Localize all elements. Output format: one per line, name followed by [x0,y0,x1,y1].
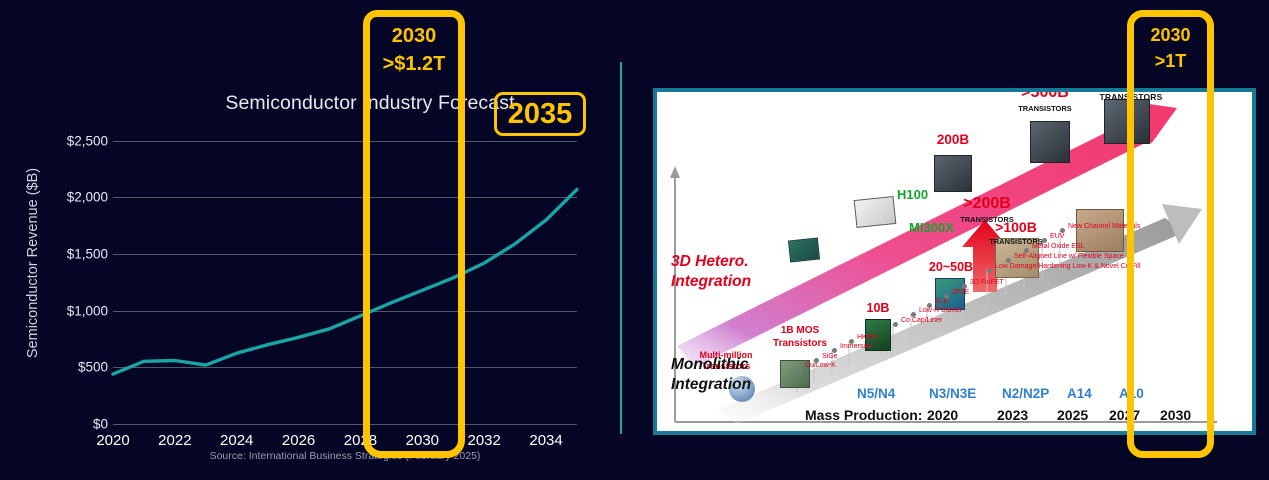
milestone-10b: 10B [853,301,903,315]
milestone-500b-unit: TRANSISTORS [993,104,1097,113]
technology-label: Metal Oxide ESL [1032,243,1085,250]
callout-right-label: 2030 >1T [1127,22,1214,74]
track-label-3d-hetero-line2: Integration [671,272,751,292]
technology-label: HKMG [857,334,878,341]
track-label-3d-hetero-line1: 3D Hetero. [671,252,751,272]
technology-label: Immersion [840,343,873,350]
track-label-monolithic-line2: Integration [671,375,751,395]
callout-left-year: 2030 [363,22,465,50]
technology-dot [1060,228,1065,233]
milestone-100b: >100B [975,219,1057,235]
mass-production-year-2027: 2027 [1109,407,1140,423]
technology-dot [987,268,992,273]
die-500b [1030,121,1070,163]
mass-production-year-2030: 2030 [1160,407,1191,423]
transistor-roadmap-panel: >1T TRANSISTORS >500B TRANSISTORS 200B >… [653,88,1256,435]
technology-label: EUV [1050,233,1064,240]
technology-dot [911,312,916,317]
revenue-line-plot [0,0,620,480]
callout-left-value: >$1.2T [363,50,465,78]
technology-dot [962,284,967,289]
track-label-monolithic: Monolithic Integration [671,355,751,395]
callout-left-label: 2030 >$1.2T [363,22,465,79]
process-node-a10: A10 [1119,386,1144,401]
callout-right-year: 2030 [1127,22,1214,48]
milestone-20-50b: 20~50B [912,260,990,274]
technology-dot [927,303,932,308]
mass-production-year-2023: 2023 [997,407,1028,423]
technology-label: 2P2E [952,289,969,296]
badge-2035: 2035 [494,92,586,136]
axis-label-mass-production: Mass Production: [805,407,922,423]
process-node-a14: A14 [1067,386,1092,401]
source-note: Source: International Business Strategie… [113,450,577,462]
semiconductor-forecast-chart: Semiconductor Industry Forecast Semicond… [0,0,620,480]
technology-label: ELK [935,298,948,305]
process-node-n5-n4: N5/N4 [857,386,895,401]
milestone-200b-mono: >200B [939,195,1035,213]
vertical-divider [620,62,622,434]
slide-root: Semiconductor Industry Forecast Semicond… [0,0,1269,480]
technology-dot [1042,238,1047,243]
technology-dot [832,348,837,353]
milestone-200b-hetero: 200B [919,132,987,147]
milestone-1b-mos-count: 1B MOS [757,325,843,338]
die-200b-hetero [934,155,972,192]
callout-right-value: >1T [1127,48,1214,74]
die-hetero-small [788,237,820,262]
milestone-1b-mos: 1B MOS Transistors [757,325,843,350]
process-node-n2-n2p: N2/N2P [1002,386,1049,401]
milestone-1t: >1T [1095,88,1167,91]
track-label-3d-hetero: 3D Hetero. Integration [671,252,751,292]
process-node-n3-n3e: N3/N3E [929,386,976,401]
roadmap-canvas: >1T TRANSISTORS >500B TRANSISTORS 200B >… [657,92,1252,431]
die-1t [1104,99,1150,144]
technology-dot [849,339,854,344]
milestone-1b-mos-unit: Transistors [757,338,843,351]
milestone-500b: >500B [997,88,1093,102]
product-label-mi300x: MI300X [909,220,954,235]
technology-label: 3D FinFET [970,279,1004,286]
track-label-monolithic-line1: Monolithic [671,355,751,375]
technology-dot [797,367,802,372]
technology-label: New Channel Materials [1068,223,1140,230]
technology-dot [814,358,819,363]
technology-dot [944,294,949,299]
technology-label: Low Damage/Hardening Low-K & Novel Cu Fi… [995,263,1141,270]
mass-production-year-2020: 2020 [927,407,958,423]
technology-label: SiGe [822,353,838,360]
technology-label: Cu/Low-K [805,362,836,369]
product-label-h100: H100 [897,187,928,202]
mass-production-year-2025: 2025 [1057,407,1088,423]
technology-label: Low-R Barrier [919,307,962,314]
technology-dot [893,322,898,327]
die-mi300x [854,196,897,228]
technology-label: Self-Aligned Line w/ Flexible Space [1014,253,1124,260]
technology-dot [1006,258,1011,263]
technology-dot [1024,248,1029,253]
technology-label: Co Cap/Liner [901,317,942,324]
